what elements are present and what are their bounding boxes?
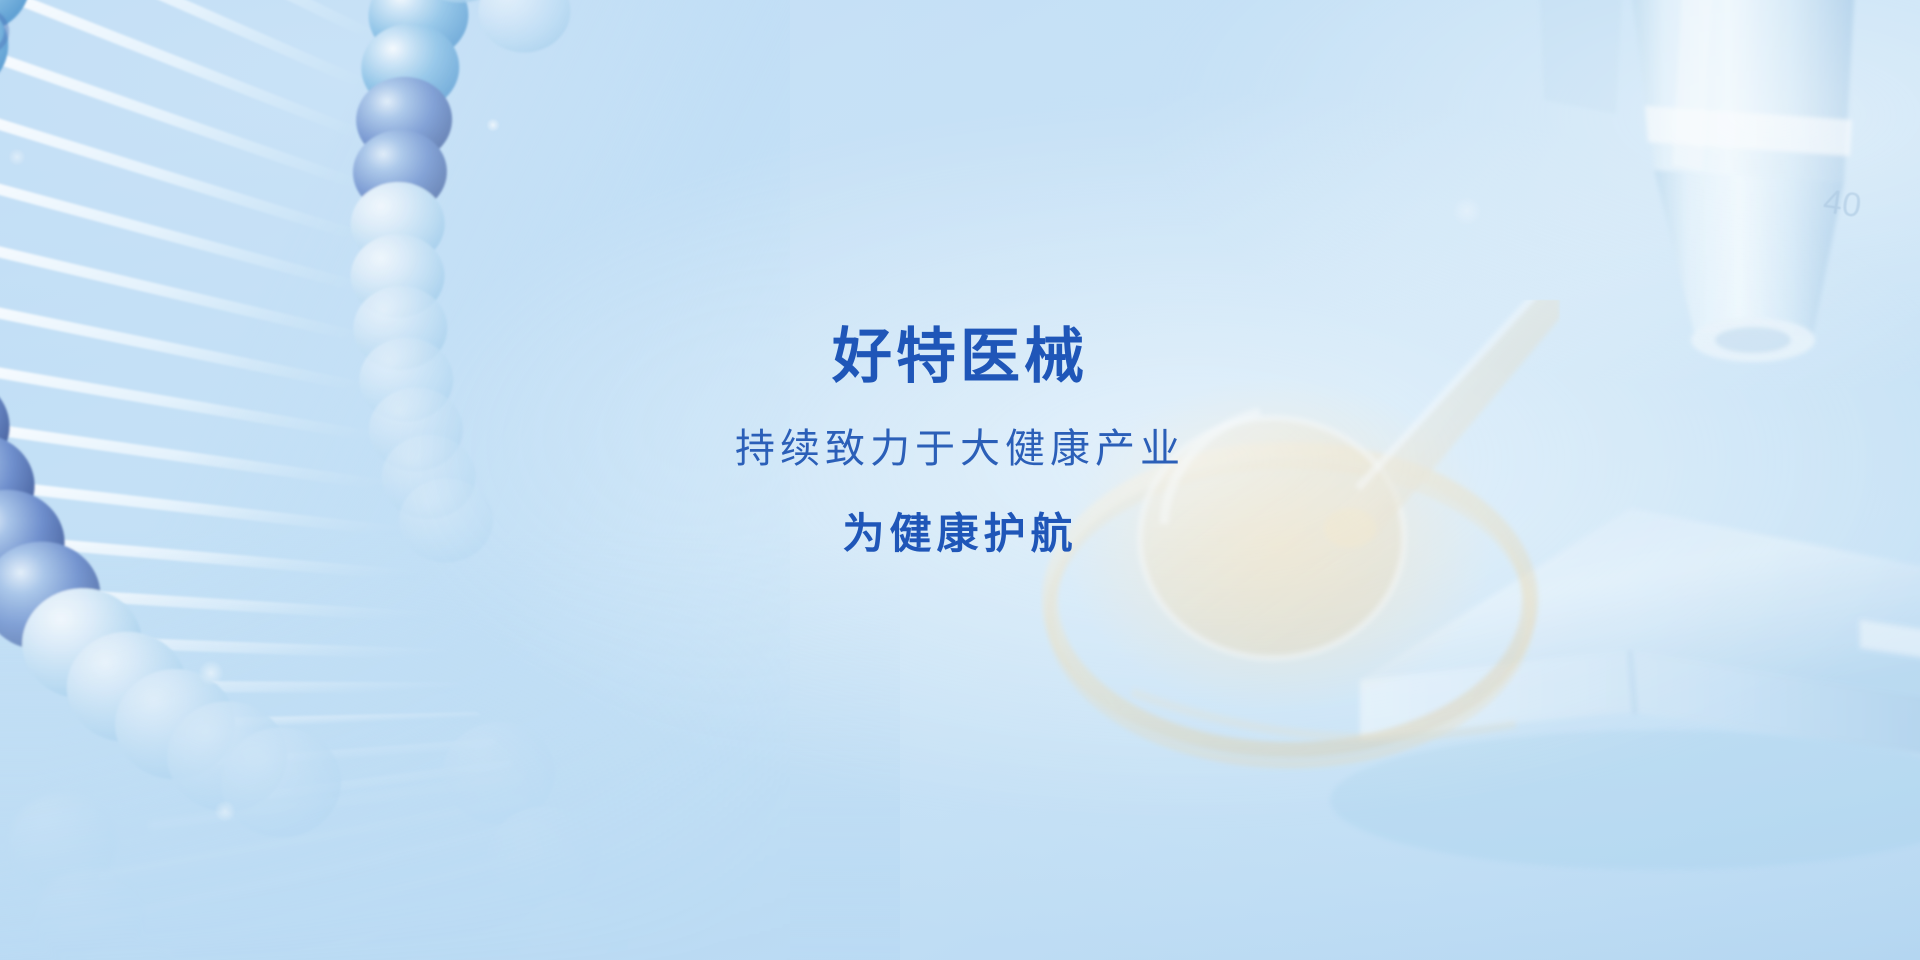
brand-tagline: 为健康护航: [0, 509, 1920, 559]
bokeh-dot: [1452, 196, 1482, 226]
bokeh-dot: [8, 148, 26, 166]
microscope-stage-graphic: [1300, 470, 1920, 900]
hero-copy-block: 好特医械 持续致力于大健康产业 为健康护航: [0, 322, 1920, 559]
hero-banner: 40: [0, 0, 1920, 960]
light-wash-overlay: [0, 0, 1920, 960]
brand-title: 好特医械: [0, 322, 1920, 391]
microscope-magnification-label: 40: [1821, 182, 1864, 225]
dna-bottom-fade-overlay: [0, 530, 900, 960]
bokeh-dot: [198, 660, 224, 686]
bokeh-dot: [214, 800, 236, 822]
lab-glassware-graphic: [1040, 300, 1560, 780]
dna-helix-graphic: [0, 0, 814, 960]
bokeh-dot: [486, 118, 500, 132]
glassware-warm-glow: [1010, 300, 1570, 770]
dna-fade-overlay: [0, 0, 790, 960]
microscope-objective-graphic: 40: [1440, 0, 1920, 490]
brand-subtitle: 持续致力于大健康产业: [0, 425, 1920, 473]
